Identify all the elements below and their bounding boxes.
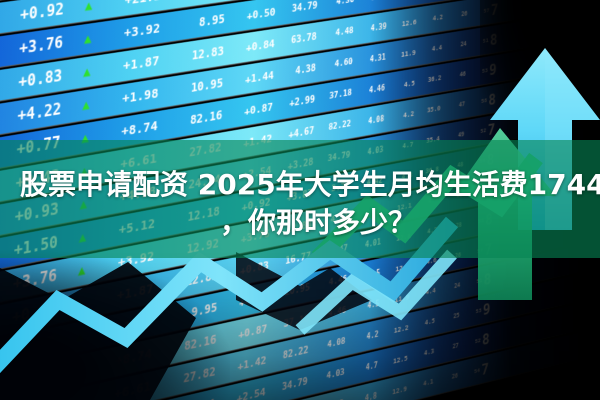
- ticker-cell: 4.7: [386, 139, 416, 153]
- ticker-cell: 10.95: [272, 281, 313, 300]
- ticker-cell: 4.7: [348, 360, 380, 376]
- up-triangle-icon: ▲: [57, 395, 82, 400]
- up-triangle-icon: ▲: [66, 64, 91, 83]
- ticker-cell: +2.54: [220, 384, 270, 400]
- ticker-cell: +3.92: [91, 20, 166, 46]
- headline: 股票申请配资 2025年大学生月均生活费1744元 ，你那时多少？: [0, 166, 600, 242]
- ticker-cell: +8.74: [89, 118, 164, 145]
- promo-banner: 34.73+8.87▲+6.1234.73+8.8712.364.6236.51…: [0, 0, 600, 400]
- ticker-cell: 52: [460, 337, 482, 349]
- ticker-cell: 12.6: [382, 261, 412, 276]
- ticker-cell: 4.39: [357, 21, 389, 34]
- ticker-cell: 58: [467, 97, 489, 107]
- ticker-cell: +0.87: [222, 321, 272, 345]
- ticker-cell: 4.5: [350, 267, 382, 282]
- ticker-cell: 47: [443, 100, 467, 112]
- ticker-cell: 4.31: [356, 52, 388, 66]
- ticker-cell: 53: [461, 307, 483, 318]
- ticker-cell: 36.5: [358, 0, 390, 4]
- ticker-cell: 9: [483, 299, 491, 318]
- ticker-cell: 26: [436, 371, 460, 384]
- ticker-cell: 36.2: [417, 74, 444, 86]
- ticker-cell: +0.50: [230, 5, 280, 25]
- up-triangle-icon: ▲: [59, 328, 84, 348]
- ticker-cell: 8: [488, 90, 496, 109]
- ticker-cell: +1.98: [90, 85, 165, 112]
- ticker-cell: 57: [463, 247, 485, 258]
- ticker-cell: 4.60: [319, 57, 356, 72]
- ticker-cell: 25: [437, 311, 461, 324]
- up-triangle-icon: ▲: [67, 31, 92, 50]
- ticker-cell: 9.95: [158, 299, 223, 327]
- headline-line-2: ，你那时多少？: [0, 204, 600, 242]
- up-triangle-icon: ▲: [58, 361, 83, 382]
- up-triangle-icon: ▲: [60, 295, 85, 315]
- ticker-cell: 4.6: [412, 256, 439, 269]
- ticker-cell: 82.16: [157, 331, 222, 359]
- up-triangle-icon: ▲: [64, 130, 89, 149]
- ticker-cell: 7: [481, 359, 489, 378]
- ticker-cell: 26: [439, 251, 463, 263]
- ticker-cell: +0.92: [0, 0, 68, 31]
- ticker-cell: 4.48: [320, 26, 357, 41]
- ticker-cell: 4.03: [311, 367, 348, 385]
- ticker-cell: 82.16: [163, 107, 228, 132]
- up-triangle-icon: ▲: [67, 0, 92, 16]
- ticker-cell: 34.79: [317, 150, 354, 166]
- ticker-cell: 9: [489, 60, 497, 79]
- up-triangle-icon: ▲: [65, 97, 90, 116]
- ticker-cell: 4.5: [387, 78, 417, 91]
- ticker-cell: 34.79: [270, 375, 311, 395]
- ticker-cell: +4.22: [222, 289, 272, 312]
- ticker-cell: +0.83: [223, 257, 273, 280]
- ticker-cell: 4.30: [321, 0, 358, 10]
- ticker-cell: 8: [484, 269, 492, 288]
- ticker-cell: 26: [445, 10, 469, 21]
- ticker-cell: 35.4: [416, 135, 443, 147]
- ticker-cell: 4.46: [355, 83, 387, 97]
- ticker-cell: 4.2: [386, 108, 416, 122]
- ticker-cell: 8.95: [165, 11, 230, 34]
- ticker-cell: 4.1: [409, 377, 436, 391]
- ticker-cell: 4.08: [312, 336, 349, 354]
- ticker-cell: +1.87: [84, 280, 159, 310]
- headline-line-1: 股票申请配资 2025年大学生月均生活费1744元: [0, 166, 600, 204]
- ticker-cell: 12.2: [381, 322, 411, 337]
- ticker-cell: 4.47: [314, 243, 351, 260]
- ticker-cell: 4.3: [410, 347, 437, 361]
- ticker-cell: 4.8: [347, 391, 379, 400]
- ticker-cell: 51: [468, 37, 490, 47]
- ticker-cell: 4.4: [412, 286, 439, 299]
- ticker-cell: 4.46: [313, 305, 350, 323]
- ticker-cell: 4.08: [354, 114, 386, 128]
- ticker-cell: 46: [444, 70, 468, 81]
- ticker-cell: 51: [462, 277, 484, 288]
- ticker-cell: 49: [442, 130, 466, 142]
- ticker-cell: 27.82: [162, 139, 227, 164]
- ticker-cell: 4.5: [349, 298, 381, 314]
- ticker-cell: 7: [491, 0, 499, 18]
- ticker-cell: 12.9: [379, 383, 409, 399]
- ticker-cell: 4.38: [278, 62, 319, 79]
- ticker-cell: 53: [467, 67, 489, 77]
- ticker-cell: 4.2: [349, 329, 381, 345]
- ticker-cell: 57: [469, 7, 491, 17]
- ticker-cell: 37.18: [271, 313, 312, 333]
- ticker-cell: +1.42: [221, 352, 271, 376]
- ticker-cell: 54: [459, 367, 481, 379]
- ticker-cell: 34.79: [280, 0, 321, 16]
- ticker-cell: 82.22: [317, 119, 354, 135]
- ticker-cell: 12.6: [389, 17, 419, 30]
- ticker-cell: 16.77: [273, 250, 314, 269]
- ticker-cell: +1.87: [90, 53, 165, 79]
- ticker-cell: +1.42: [227, 131, 277, 152]
- ticker-cell: +0.84: [229, 36, 279, 56]
- ticker-cell: 24: [438, 281, 462, 294]
- ticker-cell: 82.22: [271, 344, 312, 364]
- ticker-cell: +1.44: [228, 68, 278, 89]
- ticker-cell: 24: [444, 40, 468, 51]
- ticker-cell: 4.5: [411, 317, 438, 330]
- ticker-cell: 4.4: [418, 43, 445, 55]
- ticker-cell: 35.0: [416, 104, 443, 116]
- ticker-cell: 52: [466, 127, 488, 137]
- ticker-cell: 11.9: [382, 292, 412, 307]
- ticker-cell: 12.83: [159, 267, 224, 294]
- ticker-cell: +4.67: [276, 125, 317, 143]
- ticker-cell: 7: [487, 120, 495, 139]
- ticker-cell: +0.87: [227, 99, 277, 120]
- ticker-cell: 10.95: [164, 75, 229, 99]
- ticker-cell: 27.82: [156, 363, 221, 392]
- ticker-cell: +3.92: [85, 248, 160, 278]
- ticker-cell: 7: [484, 240, 492, 259]
- ticker-cell: +21.3: [92, 0, 167, 13]
- ticker-cell: 63.78: [279, 31, 320, 48]
- ticker-cell: 27: [436, 341, 460, 354]
- ticker-cell: 12.83: [165, 43, 230, 67]
- ticker-cell: 12.5: [380, 353, 410, 369]
- ticker-cell: 12.34: [166, 0, 231, 2]
- ticker-cell: 11.9: [388, 47, 418, 60]
- ticker-cell: 4.03: [353, 144, 385, 158]
- ticker-cell: 4.2: [419, 13, 446, 24]
- ticker-cell: 4.46: [313, 274, 350, 291]
- ticker-cell: 37.18: [318, 88, 355, 104]
- up-triangle-icon: ▲: [60, 262, 85, 282]
- ticker-cell: 8: [482, 329, 490, 348]
- ticker-cell: +2.99: [277, 93, 318, 110]
- ticker-cell: 8: [490, 30, 498, 48]
